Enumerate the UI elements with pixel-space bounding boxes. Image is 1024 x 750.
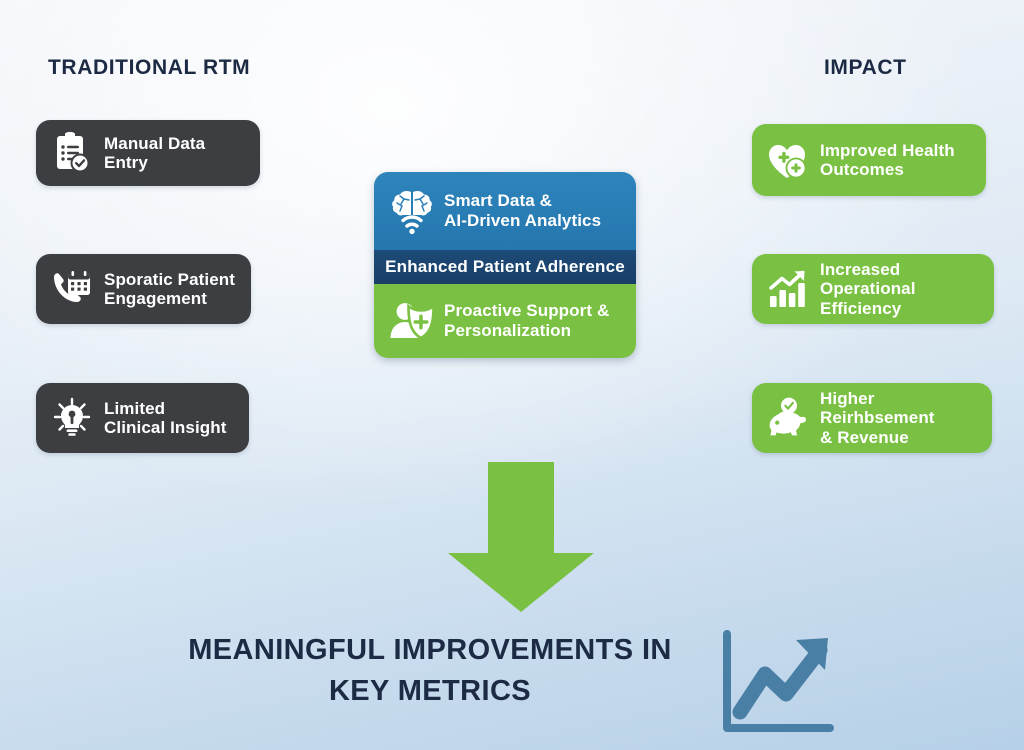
card-label: Higher Reirhbsement & Revenue <box>820 389 978 447</box>
center-row-label: Proactive Support & Personalization <box>444 301 609 340</box>
column-heading-impact: IMPACT <box>824 56 907 80</box>
card-limited-clinical-insight[interactable]: Limited Clinical Insight <box>36 383 249 453</box>
card-label: Improved Health Outcomes <box>820 141 955 180</box>
card-label: Sporatic Patient Engagement <box>104 270 235 309</box>
center-row-proactive-support-personalization[interactable]: Proactive Support & Personalization <box>374 284 636 358</box>
bar-chart-up-icon <box>764 265 812 313</box>
person-shield-plus-icon <box>386 295 438 347</box>
card-label: Increased Operational Efficiency <box>820 260 980 318</box>
center-row-label: Enhanced Patient Adherence <box>385 257 625 277</box>
center-row-enhanced-patient-adherence[interactable]: Enhanced Patient Adherence <box>374 250 636 284</box>
down-arrow-icon <box>442 458 600 616</box>
card-increased-operational-efficiency[interactable]: Increased Operational Efficiency <box>752 254 994 324</box>
lightbulb-icon <box>48 394 96 442</box>
card-label: Manual Data Entry <box>104 134 246 173</box>
center-solution-panel: Smart Data & AI-Driven Analytics Enhance… <box>374 172 636 358</box>
piggy-bank-check-icon <box>764 394 812 442</box>
brain-wifi-icon <box>386 185 438 237</box>
card-label: Limited Clinical Insight <box>104 399 227 438</box>
card-sporatic-patient-engagement[interactable]: Sporatic Patient Engagement <box>36 254 251 324</box>
card-higher-reimbursement-revenue[interactable]: Higher Reirhbsement & Revenue <box>752 383 992 453</box>
card-improved-health-outcomes[interactable]: Improved Health Outcomes <box>752 124 986 196</box>
column-heading-traditional-rtm: TRADITIONAL RTM <box>48 56 250 80</box>
heart-plus-icon <box>764 136 812 184</box>
infographic-canvas: TRADITIONAL RTM IMPACT Manual Data Entry <box>0 0 1024 750</box>
phone-calendar-icon <box>48 265 96 313</box>
center-row-label: Smart Data & AI-Driven Analytics <box>444 191 601 230</box>
growth-chart-icon <box>718 628 838 740</box>
clipboard-check-icon <box>48 129 96 177</box>
center-row-smart-data-ai-analytics[interactable]: Smart Data & AI-Driven Analytics <box>374 172 636 250</box>
page-title: MEANINGFUL IMPROVEMENTS IN KEY METRICS <box>150 630 710 712</box>
card-manual-data-entry[interactable]: Manual Data Entry <box>36 120 260 186</box>
